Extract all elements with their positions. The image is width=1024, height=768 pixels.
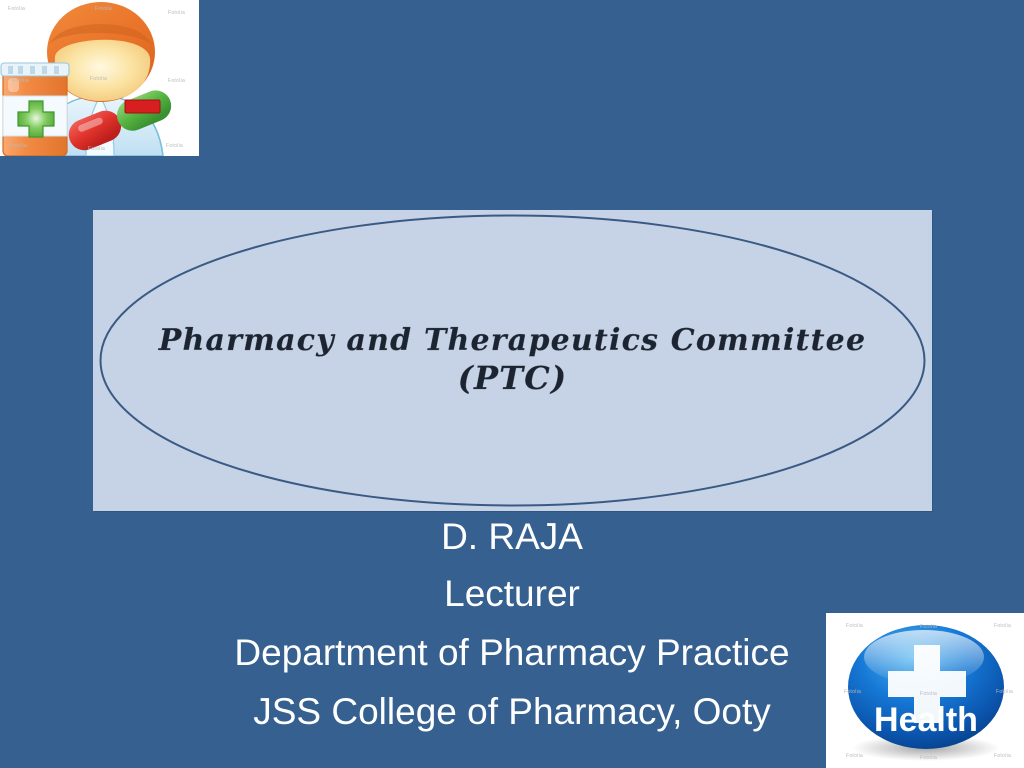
health-orb-illustration: Health xyxy=(826,613,1024,768)
pharmacist-illustration xyxy=(0,0,199,156)
presenter-name: D. RAJA xyxy=(0,518,1024,555)
slide-title-line-1: Pharmacy and Therapeutics Committee xyxy=(159,324,866,358)
health-logo-image: Health Fotolia Fotolia Fotolia Fotolia F… xyxy=(826,613,1024,768)
health-logo-label: Health xyxy=(874,701,978,739)
title-panel: Pharmacy and Therapeutics Committee (PTC… xyxy=(93,210,932,511)
slide-title-line-2: (PTC) xyxy=(458,361,568,397)
title-text-block: Pharmacy and Therapeutics Committee (PTC… xyxy=(93,210,932,511)
pharmacist-clipart-image: Fotolia Fotolia Fotolia Fotolia Fotolia … xyxy=(0,0,199,156)
presenter-role: Lecturer xyxy=(0,575,1024,612)
presentation-slide: Fotolia Fotolia Fotolia Fotolia Fotolia … xyxy=(0,0,1024,768)
